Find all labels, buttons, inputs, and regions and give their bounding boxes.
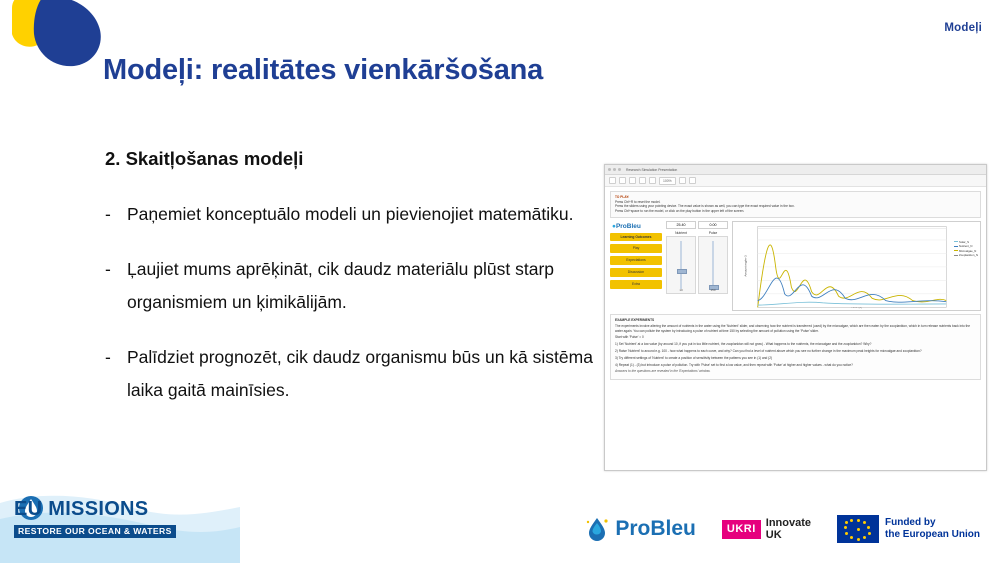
slider-group: 10 150	[666, 236, 728, 294]
innovate-uk-label: Innovate UK	[766, 517, 811, 541]
brand-logo-mark	[8, 0, 118, 100]
slider-knob[interactable]	[677, 269, 687, 274]
legend-swatch	[954, 255, 958, 256]
eu-missions-title: EU MISSIONS	[14, 498, 176, 521]
experiments-paragraph: 1) Set 'Nutrient' at a low value (by aro…	[615, 342, 976, 347]
slider-track	[680, 241, 682, 289]
zoom-in-icon	[679, 177, 686, 184]
experiments-note: Answers to the questions are revealed in…	[615, 369, 976, 374]
section-subheading: 2. Skaitļošanas modeļi	[105, 148, 303, 170]
list-item: - Ļaujiet mums aprēķināt, cik daudz mate…	[105, 253, 610, 319]
experiments-paragraph: 2) Raise 'Nutrient' to around e.g. 100 -…	[615, 349, 976, 354]
list-item: - Paņemiet konceptuālo modeli un pievien…	[105, 198, 610, 231]
simulation-controls: 25.40 0.00 Nutrient Pulse 10 150	[666, 221, 728, 294]
footer-logo-row: ProBleu UKRI Innovate UK Funded by the E…	[584, 515, 980, 543]
pulse-slider[interactable]: 150	[698, 236, 728, 294]
probleu-label: ProBleu	[616, 223, 641, 230]
ukri-logo: UKRI Innovate UK	[722, 517, 811, 541]
learning-outcomes-badge: Learning Outcomes	[610, 233, 662, 241]
eu-funded-text: Funded by the European Union	[885, 517, 980, 541]
pulse-readout: 0.00	[698, 221, 728, 229]
innovate-line2: UK	[766, 529, 782, 541]
screenshot-toolbar: 100%	[605, 175, 986, 187]
instructions-line: Press Ctrl+space to run the model, or cl…	[615, 209, 976, 214]
bullet-marker: -	[105, 253, 127, 319]
page-title: Modeļi: realitātes vienkāršošana	[103, 54, 543, 87]
chart-plot	[733, 222, 980, 323]
print-icon	[639, 177, 646, 184]
nutrient-slider[interactable]: 10	[666, 236, 696, 294]
play-button[interactable]: Play	[610, 244, 662, 253]
legend-label: Zooplankton_N	[959, 253, 978, 257]
window-dot-icon	[608, 168, 611, 171]
eu-flag-icon	[837, 515, 879, 543]
window-dot-icon	[618, 168, 621, 171]
slider-track	[712, 241, 714, 289]
ukri-wordmark: UKRI	[722, 520, 761, 539]
eu-missions-logo: EU MISSIONS RESTORE OUR OCEAN & WATERS	[14, 498, 176, 539]
bullet-text: Ļaujiet mums aprēķināt, cik daudz materi…	[127, 253, 610, 319]
legend-swatch	[954, 241, 958, 242]
simulation-screenshot: Research Simulation Presentation 100% TO…	[604, 164, 987, 471]
eu-funding-logo: Funded by the European Union	[837, 515, 980, 543]
legend-item: Zooplankton_N	[954, 253, 978, 257]
legend-swatch	[954, 246, 958, 247]
simulation-main-area: ●ProBleu Learning Outcomes Play Expectat…	[605, 221, 986, 311]
back-arrow-icon	[609, 177, 616, 184]
experiments-paragraph: 4) Repeat (1) - (3) but introduce a puls…	[615, 363, 976, 368]
bullet-list: - Paņemiet konceptuālo modeli un pievien…	[105, 198, 610, 429]
slider-min-label: 10	[667, 288, 695, 292]
bullet-text: Paņemiet konceptuālo modeli un pievienoj…	[127, 198, 574, 231]
pulse-label: Pulse	[698, 231, 728, 235]
probleu-label: ProBleu	[615, 517, 696, 541]
discussion-button[interactable]: Discussion	[610, 268, 662, 277]
slider-max-label: 150	[699, 288, 727, 292]
eu-missions-subtitle: RESTORE OUR OCEAN & WATERS	[14, 525, 176, 538]
probleu-logo-small: ●ProBleu	[612, 223, 662, 230]
control-headers: Nutrient Pulse	[666, 231, 728, 235]
probleu-drop-icon	[584, 516, 610, 542]
corner-label: Modeļi	[944, 22, 982, 34]
experiments-paragraph: Start with 'Pulse' = 0	[615, 335, 976, 340]
window-dot-icon	[613, 168, 616, 171]
instructions-panel: TO PLAY: Press Ctrl+R to reset the model…	[610, 191, 981, 218]
expectations-button[interactable]: Expectations	[610, 256, 662, 265]
simulation-chart: Amount mg/m-3 Time (d) Solar_S Nutrient	[732, 221, 981, 311]
chart-legend: Solar_S Nutrient_N Microalgae_N Zooplank…	[954, 240, 978, 258]
simulation-left-panel: ●ProBleu Learning Outcomes Play Expectat…	[610, 221, 662, 289]
home-icon	[629, 177, 636, 184]
legend-swatch	[954, 250, 958, 251]
experiments-paragraph: The experiments involve altering the amo…	[615, 324, 976, 334]
eu-funded-line2: the European Union	[885, 529, 980, 540]
nutrient-readout: 25.40	[666, 221, 696, 229]
probleu-logo: ProBleu	[584, 516, 696, 542]
list-item: - Palīdziet prognozēt, cik daudz organis…	[105, 341, 610, 407]
eu-funded-line1: Funded by	[885, 517, 936, 528]
zoom-level: 100%	[659, 177, 676, 185]
screenshot-titlebar: Research Simulation Presentation	[605, 165, 986, 175]
readout-row: 25.40 0.00	[666, 221, 728, 229]
bullet-marker: -	[105, 198, 127, 231]
forward-arrow-icon	[619, 177, 626, 184]
innovate-line1: Innovate	[766, 517, 811, 529]
bullet-marker: -	[105, 341, 127, 407]
legend-label: Solar_S	[959, 240, 969, 244]
legend-label: Microalgae_N	[959, 249, 976, 253]
save-icon	[649, 177, 656, 184]
nutrient-label: Nutrient	[666, 231, 696, 235]
extra-button[interactable]: Extra	[610, 280, 662, 289]
zoom-out-icon	[689, 177, 696, 184]
legend-label: Nutrient_N	[959, 244, 972, 248]
bullet-text: Palīdziet prognozēt, cik daudz organismu…	[127, 341, 610, 407]
experiments-paragraph: 3) Try different settings of 'Nutrient' …	[615, 356, 976, 361]
window-title: Research Simulation Presentation	[626, 168, 677, 172]
example-experiments-panel: EXAMPLE EXPERIMENTS The experiments invo…	[610, 314, 981, 381]
